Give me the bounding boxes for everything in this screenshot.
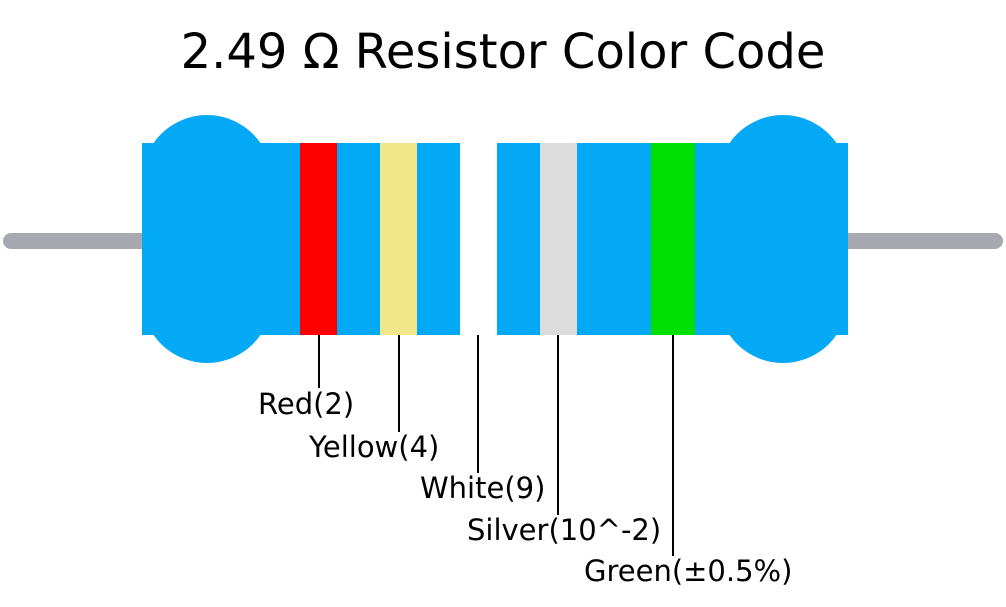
color-band-3	[460, 143, 497, 335]
band-label-2: Yellow(4)	[309, 433, 439, 462]
right-end-cap	[718, 115, 848, 363]
left-end-cap	[142, 115, 272, 363]
color-band-2	[380, 143, 417, 335]
color-band-5	[651, 143, 695, 335]
color-band-1	[300, 143, 337, 335]
band-label-1: Red(2)	[258, 390, 354, 419]
color-band-4	[540, 143, 577, 335]
band-label-4: Silver(10^-2)	[467, 516, 661, 545]
band-label-5: Green(±0.5%)	[584, 557, 792, 586]
band-label-3: White(9)	[420, 474, 545, 503]
resistor-color-code-diagram: 2.49 Ω Resistor Color Code Red(2)Yellow(…	[0, 0, 1006, 607]
